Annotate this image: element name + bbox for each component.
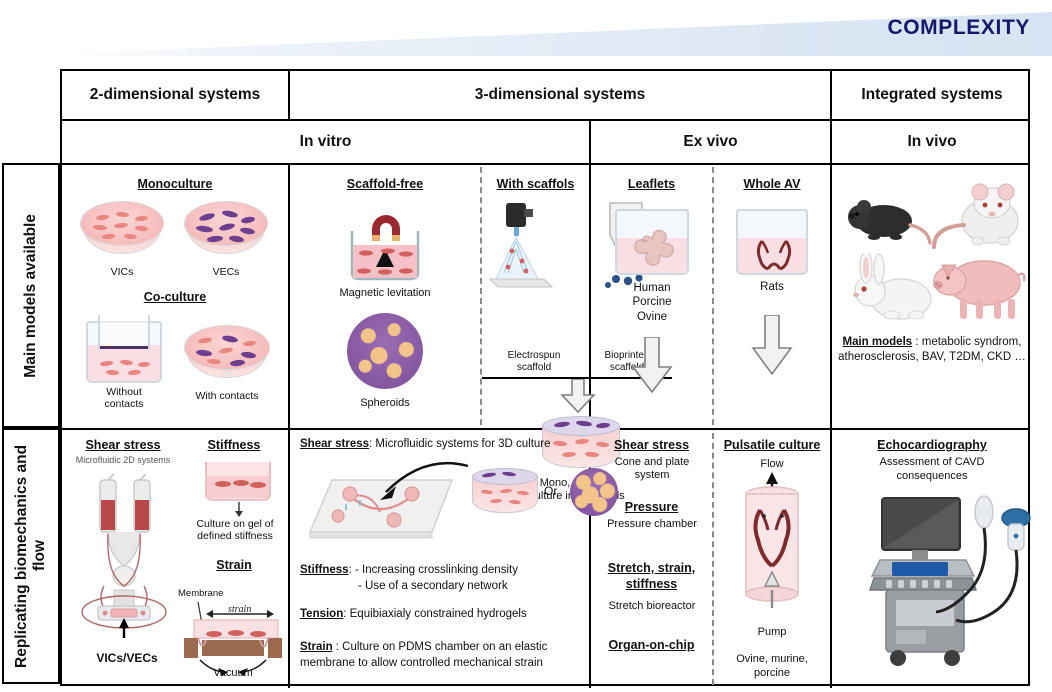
microfluidic-2d-system-icon (78, 472, 174, 640)
arrow-down-icon (751, 315, 793, 375)
vics-vecs-caption: VICs/VECs (72, 652, 182, 666)
whole-av-well-icon (736, 209, 808, 275)
vecs-dish-icon (184, 201, 268, 263)
rabbit-icon (846, 253, 940, 325)
complexity-banner: COMPLEXITY (0, 0, 1052, 62)
tension-3d-label: Tension (300, 608, 343, 620)
cell-2d-models: Monoculture VICs (62, 165, 288, 428)
header-2d-text: 2-dimensional systems (90, 86, 261, 104)
exvivo-shear-title: Shear stress (591, 438, 712, 452)
header-in-vivo-text: In vivo (907, 133, 956, 151)
hydrogel-3d-icon (472, 468, 538, 518)
stiffness-2d-caption: Culture on gel of defined stiffness (184, 518, 286, 542)
header-2-dimensional-systems: 2-dimensional systems (62, 71, 288, 119)
echocardiography-title: Echocardiography (832, 438, 1032, 452)
pump-label: Pump (714, 626, 830, 639)
coculture-title: Co-culture (62, 290, 288, 304)
vacuum-label: Vacuum (200, 667, 266, 680)
exvivo-pressure-title: Pressure (591, 500, 712, 514)
electrospun-scaffold-icon (486, 201, 586, 293)
magnetic-levitation-caption: Magnetic levitation (294, 287, 476, 300)
black-mouse-icon (840, 187, 934, 249)
row-label-main-models-text: Main models available (22, 214, 40, 378)
electrospun-glyph (486, 201, 586, 293)
ultrasound-machine-icon (856, 492, 1036, 672)
header-in-vitro-text: In vitro (300, 133, 352, 151)
leaflet-shapes-glyph (617, 211, 689, 275)
whole-av-down-arrow (751, 315, 793, 375)
exvivo-pressure-subtitle: Pressure chamber (593, 518, 711, 531)
strain-2d-title: Strain (182, 558, 286, 572)
complexity-title: COMPLEXITY (887, 16, 1030, 40)
pig-icon (932, 247, 1032, 327)
flow-label: Flow (714, 458, 830, 471)
without-contacts-caption: Without contacts (74, 386, 174, 410)
with-scaffolds-title: With scaffols (476, 177, 595, 191)
header-3d-text: 3-dimensional systems (475, 86, 646, 104)
strain-3d-text: : Culture on PDMS chamber on an elastic … (300, 641, 547, 669)
leaflets-well-icon (615, 209, 689, 275)
shear-stress-2d-subtitle: Microfluidic 2D systems (62, 455, 184, 465)
cell-leaflets: Leaflets Human Porcine Ovine (591, 165, 712, 428)
row-label-column: Main models available Replicating biomec… (2, 163, 60, 684)
electrospun-caption: Electrospun scaffold (480, 350, 588, 373)
stiff-gel-well-icon (198, 460, 278, 504)
header-integrated-text: Integrated systems (861, 86, 1002, 104)
exvivo-shear-subtitle: Cone and plate system (597, 456, 707, 481)
magnet-glyph (336, 201, 434, 283)
shear-stress-3d-label: Shear stress (300, 438, 369, 450)
row-label-biomechanics-text: Replicating biomechanics and flow (13, 430, 49, 682)
with-contacts-caption: With contacts (180, 390, 274, 402)
cell-exvivo-wholeav-biomechanics: Pulsatile culture Flow Pump Ovine, murin… (714, 430, 830, 686)
whole-av-species: Rats (722, 281, 822, 294)
stiffness-3d-label: Stiffness (300, 564, 349, 576)
vecs-caption: VECs (184, 266, 268, 278)
whole-av-title: Whole AV (714, 177, 830, 191)
leaflets-species: Human Porcine Ovine (599, 281, 705, 324)
header-in-vivo: In vivo (832, 121, 1032, 163)
spheroid-icon (347, 313, 423, 389)
transwell-icon (86, 315, 162, 383)
main-models-label: Main models (843, 336, 913, 348)
cell-in-vivo-models: Main models : metabolic syndrom, atheros… (832, 165, 1032, 428)
vics-caption: VICs (80, 266, 164, 278)
leaflets-title: Leaflets (591, 177, 712, 191)
tension-3d-text: : Equibiaxialy constrained hydrogels (343, 608, 526, 620)
header-in-vitro: In vitro (62, 121, 589, 163)
aortic-valve-glyph (738, 211, 808, 275)
cell-exvivo-leaflets-biomechanics: Shear stress Cone and plate system Press… (591, 430, 712, 686)
white-rat-icon (930, 179, 1028, 255)
with-contacts-dish-icon (184, 325, 270, 387)
scaffold-free-title: Scaffold-free (290, 177, 480, 191)
exvivo-organ-on-chip-title: Organ-on-chip (591, 638, 712, 652)
header-ex-vivo-text: Ex vivo (683, 133, 737, 151)
leaflets-down-arrow (631, 337, 673, 393)
header-integrated-systems: Integrated systems (832, 71, 1032, 119)
echocardiography-subtitle: Assessment of CAVD consequences (842, 456, 1022, 484)
figure-root: COMPLEXITY Main models available Replica… (0, 0, 1052, 692)
pulsatile-culture-title: Pulsatile culture (710, 438, 834, 452)
exvivo-stretch-title: Stretch, strain, stiffness (591, 560, 712, 593)
stiffness-3d-text1: : - Increasing crosslinking density (349, 564, 518, 576)
cell-2d-biomechanics: Shear stress Microfluidic 2D systems (62, 430, 288, 686)
models-table: 2-dimensional systems 3-dimensional syst… (60, 69, 1030, 686)
shear-stress-2d-title: Shear stress (68, 438, 178, 452)
row-label-biomechanics: Replicating biomechanics and flow (2, 428, 60, 684)
stiffness-3d-line1: Stiffness: - Increasing crosslinking den… (300, 564, 586, 576)
pulsatile-species: Ovine, murine, porcine (714, 652, 830, 681)
pulsatile-bioreactor-icon (736, 472, 808, 622)
spheroids-caption: Spheroids (294, 397, 476, 410)
strain-3d-line: Strain : Culture on PDMS chamber on an e… (300, 640, 584, 671)
cell-3d-biomechanics: Shear stress: Microfluidic systems for 3… (290, 430, 589, 686)
monoculture-title: Monoculture (62, 177, 288, 191)
header-ex-vivo: Ex vivo (591, 121, 830, 163)
arrow-down-icon (631, 337, 673, 393)
tension-3d-line: Tension: Equibiaxialy constrained hydrog… (300, 608, 586, 620)
stiffness-3d-line2: - Use of a secondary network (358, 580, 588, 592)
cell-in-vivo-biomechanics: Echocardiography Assessment of CAVD cons… (832, 430, 1032, 686)
in-vivo-main-models-text: Main models : metabolic syndrom, atheros… (836, 335, 1028, 365)
row-label-main-models: Main models available (2, 163, 60, 428)
exvivo-stretch-subtitle: Stretch bioreactor (593, 600, 711, 613)
cell-scaffold-free: Scaffold-free Magnetic (290, 165, 480, 428)
or-label: Or (544, 484, 557, 498)
chip-pointer-arrow-icon (364, 456, 472, 506)
stiffness-2d-title: Stiffness (182, 438, 286, 452)
shear-stress-3d-text: : Microfluidic systems for 3D culture (369, 438, 551, 450)
strain-3d-label: Strain (300, 641, 333, 653)
magnetic-levitation-icon (336, 201, 434, 283)
cell-whole-av: Whole AV Rats (714, 165, 830, 428)
vics-dish-icon (80, 201, 164, 263)
strain-arrow-label: strain (228, 604, 251, 615)
shear-stress-3d-line: Shear stress: Microfluidic systems for 3… (300, 438, 586, 450)
stiffness-arrow-icon (232, 502, 246, 518)
header-3-dimensional-systems: 3-dimensional systems (290, 71, 830, 119)
